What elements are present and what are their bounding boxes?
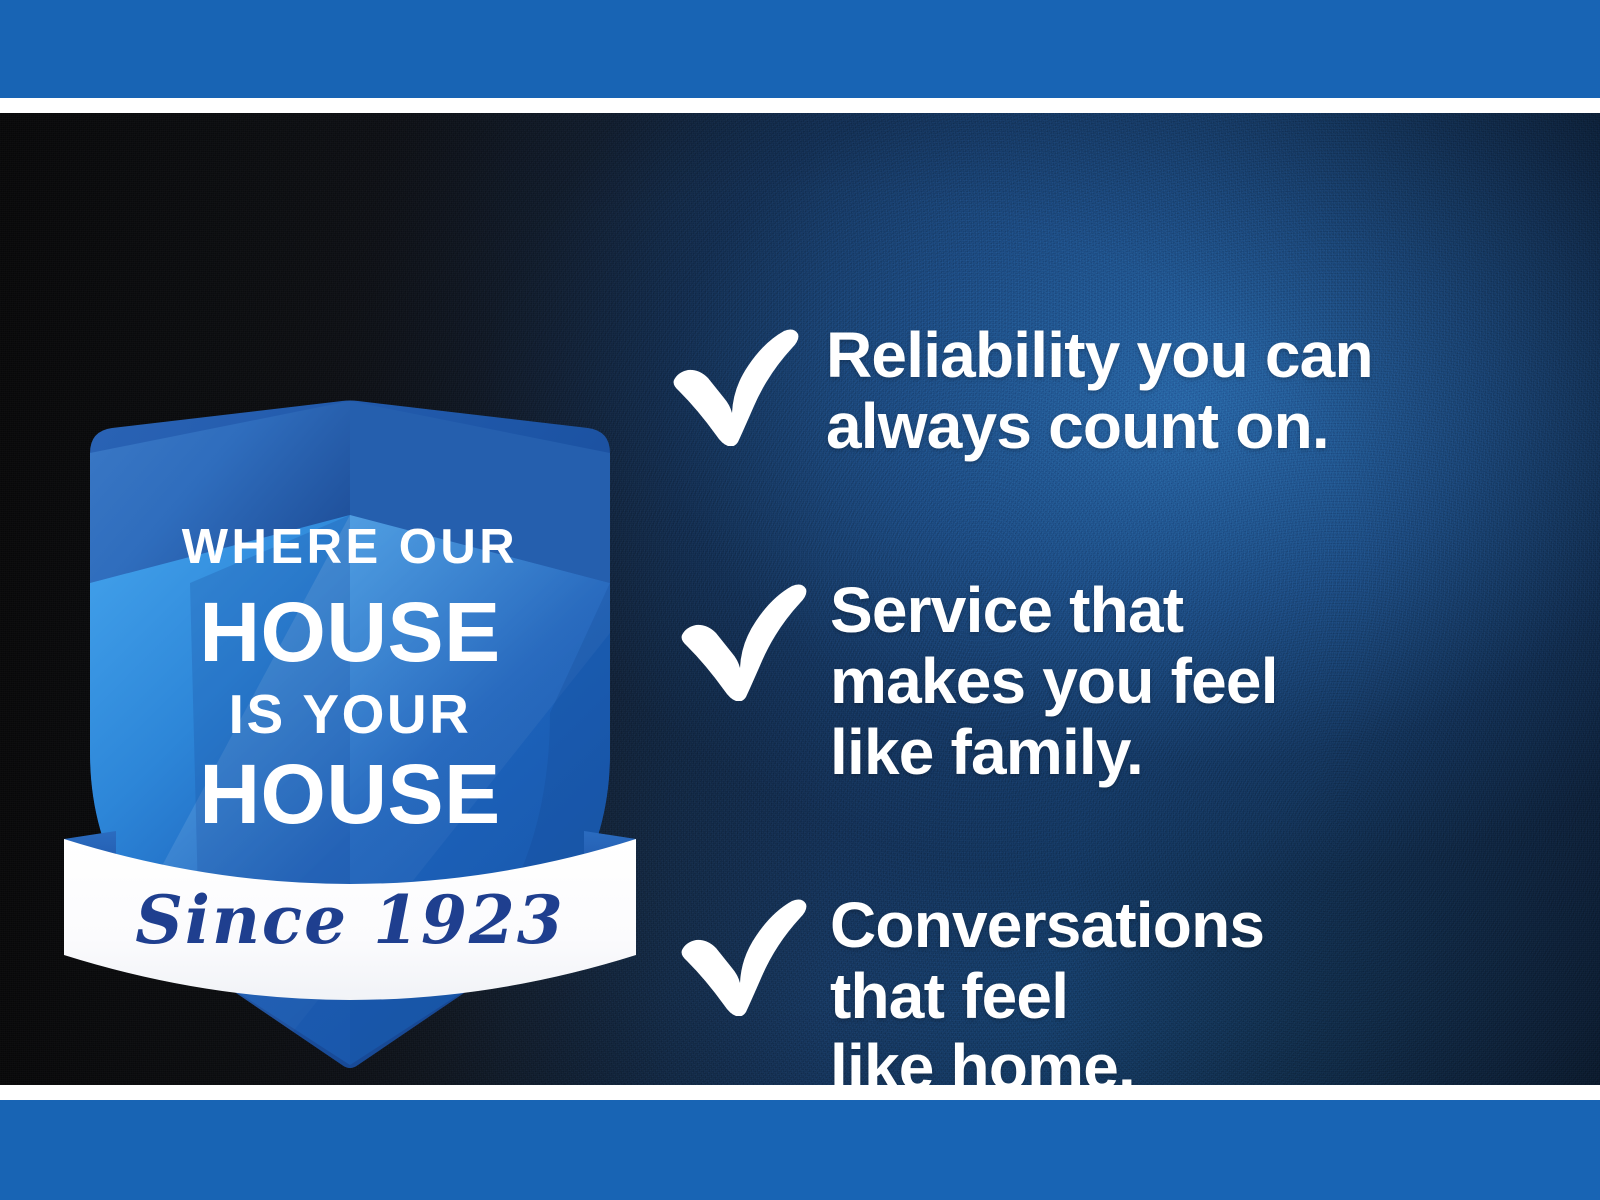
ribbon-since-text: Since 1923 xyxy=(135,881,565,959)
benefit-item-conversations: Conversations that feel like home. xyxy=(676,888,1264,1085)
benefit-item-reliability: Reliability you can always count on. xyxy=(668,318,1373,462)
checkmark-icon xyxy=(668,328,800,446)
checkmark-icon xyxy=(676,898,808,1016)
logo-line-3: IS YOUR xyxy=(229,683,472,745)
benefit-text: Conversations that feel like home. xyxy=(830,888,1264,1085)
shield-logo: WHERE OUR HOUSE IS YOUR HOUSE Since 1923 xyxy=(50,283,650,1073)
benefit-text: Reliability you can always count on. xyxy=(826,318,1373,462)
benefit-item-service: Service that makes you feel like family. xyxy=(676,573,1278,788)
checkmark-icon xyxy=(676,583,808,701)
benefit-text: Service that makes you feel like family. xyxy=(830,573,1278,788)
bottom-brand-bar xyxy=(0,1100,1600,1200)
top-brand-bar xyxy=(0,0,1600,98)
top-white-divider xyxy=(0,98,1600,113)
logo-line-2: HOUSE xyxy=(199,585,500,679)
logo-line-1: WHERE OUR xyxy=(182,520,518,574)
logo-line-4: HOUSE xyxy=(199,747,500,841)
promo-graphic: WHERE OUR HOUSE IS YOUR HOUSE Since 1923 xyxy=(0,0,1600,1200)
main-panel: WHERE OUR HOUSE IS YOUR HOUSE Since 1923 xyxy=(0,113,1600,1085)
bottom-white-divider xyxy=(0,1085,1600,1100)
